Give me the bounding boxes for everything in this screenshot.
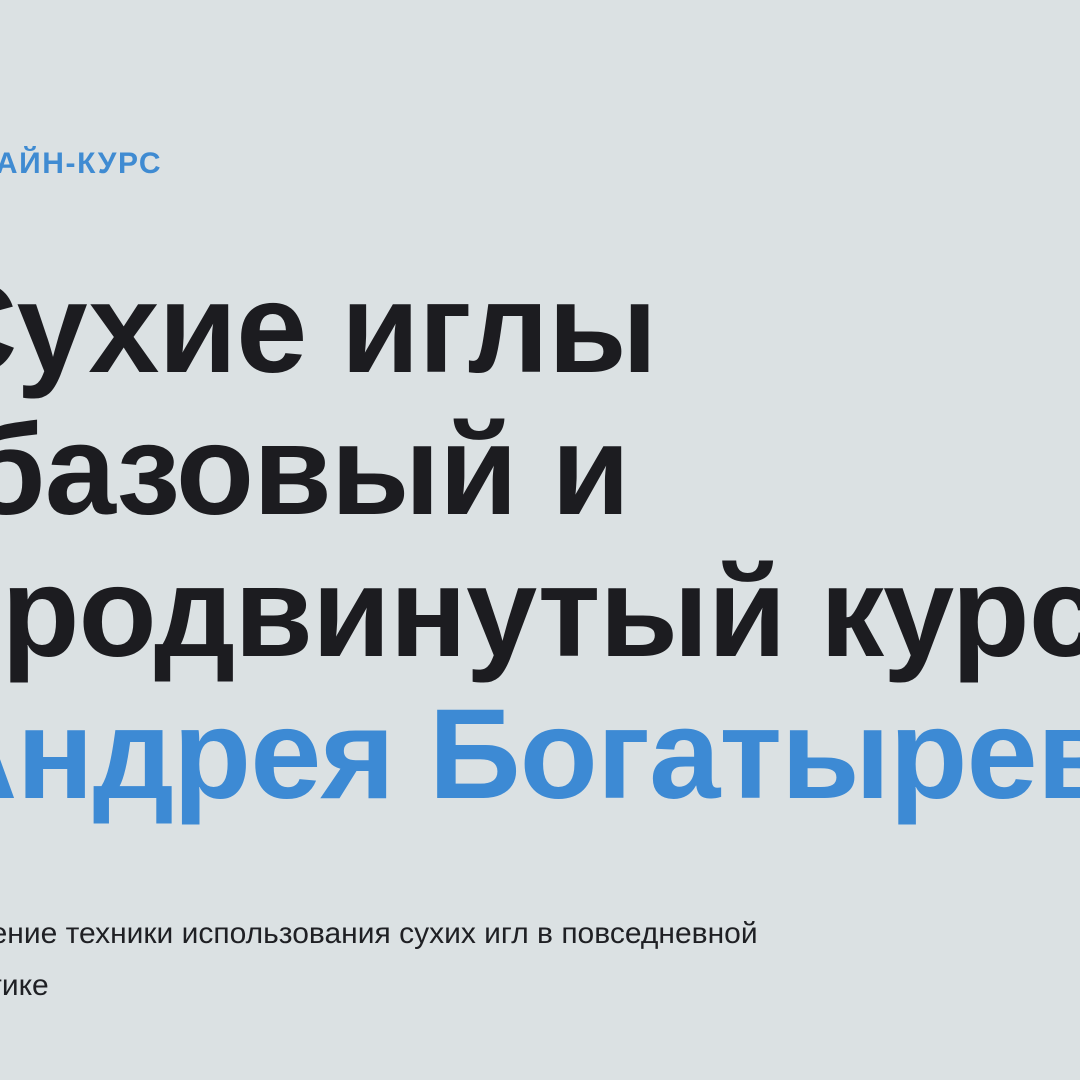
headline-line-2: (базовый и <box>0 400 1080 542</box>
course-type-eyebrow: ОНЛАЙН-КУРС <box>0 144 162 184</box>
hero-section: ОНЛАЙН-КУРС Сухие иглы (базовый и продви… <box>0 0 1080 1080</box>
subtitle-line-2: практике <box>0 960 1065 1012</box>
hero-content: ОНЛАЙН-КУРС Сухие иглы (базовый и продви… <box>0 0 1080 1080</box>
subtitle-line-1: Изучение техники использования сухих игл… <box>0 908 1065 960</box>
headline-line-1: Сухие иглы <box>0 258 1080 400</box>
headline-line-4-author: Андрея Богатырева <box>0 684 1080 826</box>
headline-line-3: продвинутый курс) от <box>0 542 1080 684</box>
page-title: Сухие иглы (базовый и продвинутый курс) … <box>0 258 1080 826</box>
page-subtitle: Изучение техники использования сухих игл… <box>0 908 1065 1012</box>
